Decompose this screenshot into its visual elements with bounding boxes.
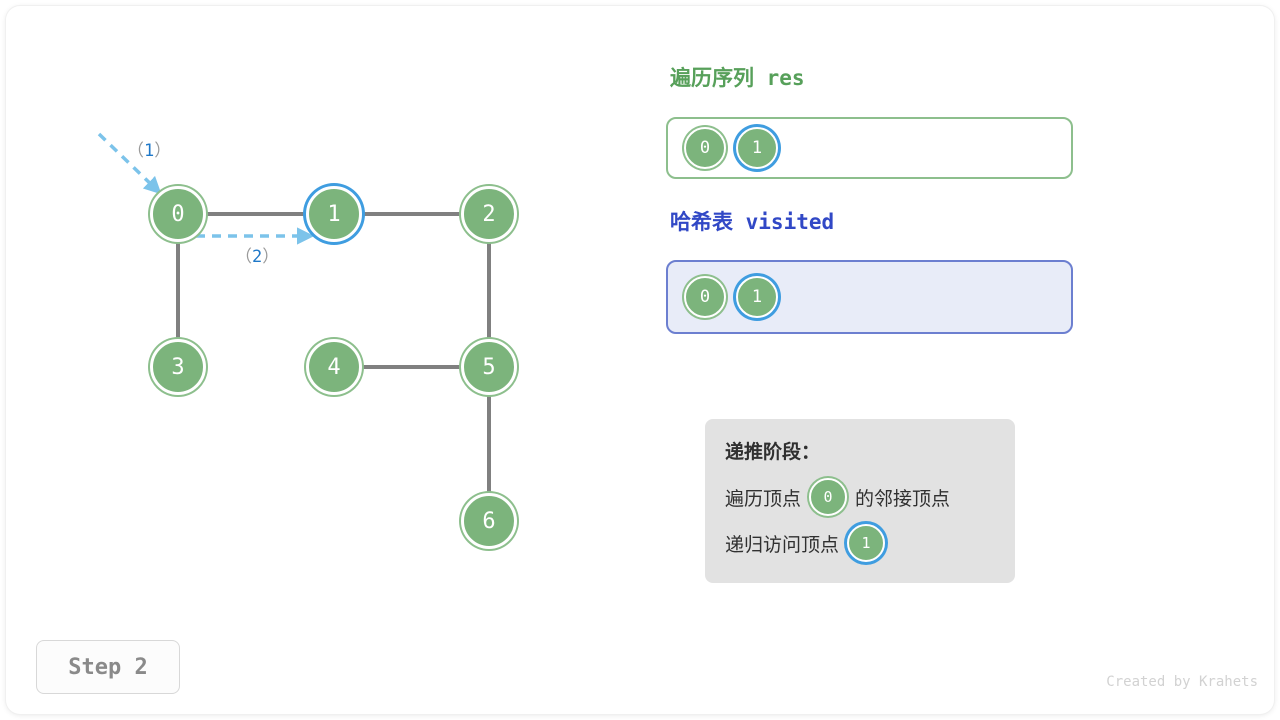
explanation-node-1-label: 1	[862, 534, 871, 552]
explanation-line-2: 递归访问顶点 1	[725, 524, 995, 562]
explanation-line-2-before: 递归访问顶点	[725, 530, 839, 557]
visited-item-0-label: 0	[700, 287, 710, 307]
graph-diagram: （1） （2） 0 1 2 3 4 5 6	[0, 0, 660, 620]
explanation-node-0-label: 0	[824, 488, 833, 506]
graph-node-2[interactable]: 2	[461, 186, 517, 242]
res-item-0-label: 0	[700, 138, 710, 158]
res-item-1[interactable]: 1	[736, 127, 778, 169]
graph-node-5[interactable]: 5	[461, 339, 517, 395]
visited-section-title: 哈希表 visited	[670, 206, 834, 236]
visited-item-1-label: 1	[752, 287, 762, 307]
res-sequence-box: 0 1	[666, 117, 1073, 179]
graph-node-1[interactable]: 1	[306, 186, 362, 242]
graph-node-1-label: 1	[327, 202, 340, 227]
explanation-line-1-after: 的邻接顶点	[855, 484, 950, 511]
explanation-heading: 递推阶段：	[725, 437, 995, 464]
explanation-node-1: 1	[847, 524, 885, 562]
visited-item-0[interactable]: 0	[684, 276, 726, 318]
graph-node-3[interactable]: 3	[150, 339, 206, 395]
explanation-line-1-before: 遍历顶点	[725, 484, 801, 511]
explanation-node-0: 0	[809, 478, 847, 516]
graph-node-3-label: 3	[171, 355, 184, 380]
graph-node-5-label: 5	[482, 355, 495, 380]
graph-node-0[interactable]: 0	[150, 186, 206, 242]
graph-node-0-label: 0	[171, 202, 184, 227]
res-item-1-label: 1	[752, 138, 762, 158]
visited-hash-box: 0 1	[666, 260, 1073, 334]
explanation-line-1: 遍历顶点 0 的邻接顶点	[725, 478, 995, 516]
res-item-0[interactable]: 0	[684, 127, 726, 169]
side-panel: 遍历序列 res 0 1 哈希表 visited 0 1 递推阶段： 遍历顶点 …	[666, 0, 1266, 620]
entry-arrow-label: （1）	[127, 136, 171, 161]
step-badge: Step 2	[36, 640, 180, 694]
footer-credit: Created by Krahets	[1106, 674, 1258, 690]
graph-node-6-label: 6	[482, 509, 495, 534]
graph-edges-layer	[0, 0, 660, 620]
graph-node-6[interactable]: 6	[461, 493, 517, 549]
res-section-title: 遍历序列 res	[670, 62, 805, 92]
graph-node-2-label: 2	[482, 202, 495, 227]
graph-node-4[interactable]: 4	[306, 339, 362, 395]
screenshot-root: （1） （2） 0 1 2 3 4 5 6 遍历序列 res 0 1 哈希表 v…	[0, 0, 1280, 720]
traverse-arrow-label: （2）	[235, 242, 279, 267]
visited-item-1[interactable]: 1	[736, 276, 778, 318]
explanation-box: 递推阶段： 遍历顶点 0 的邻接顶点 递归访问顶点 1	[705, 419, 1015, 583]
graph-node-4-label: 4	[327, 355, 340, 380]
